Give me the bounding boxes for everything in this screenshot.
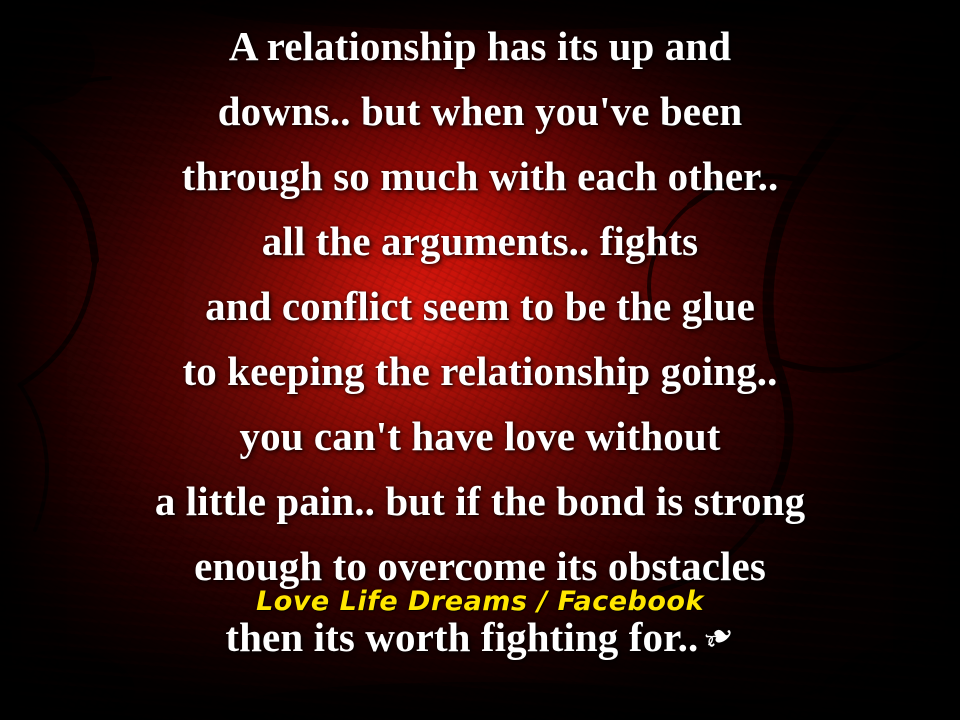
quote-line-2: downs.. but when you've been (218, 79, 743, 144)
quote-line-5: and conflict seem to be the glue (205, 274, 755, 339)
quote-line-4: all the arguments.. fights (262, 209, 699, 274)
quote-line-1: A relationship has its up and (229, 14, 731, 79)
quote-poster: A relationship has its up and downs.. bu… (0, 0, 960, 720)
quote-line-3: through so much with each other.. (182, 144, 779, 209)
quote-line-7: you can't have love without (239, 404, 720, 469)
quote-line-8: a little pain.. but if the bond is stron… (155, 469, 805, 534)
quote-final-line: then its worth fighting for.. (225, 614, 698, 660)
quote-line-6: to keeping the relationship going.. (182, 339, 777, 404)
credit-watermark: Love Life Dreams / Facebook (0, 586, 960, 617)
